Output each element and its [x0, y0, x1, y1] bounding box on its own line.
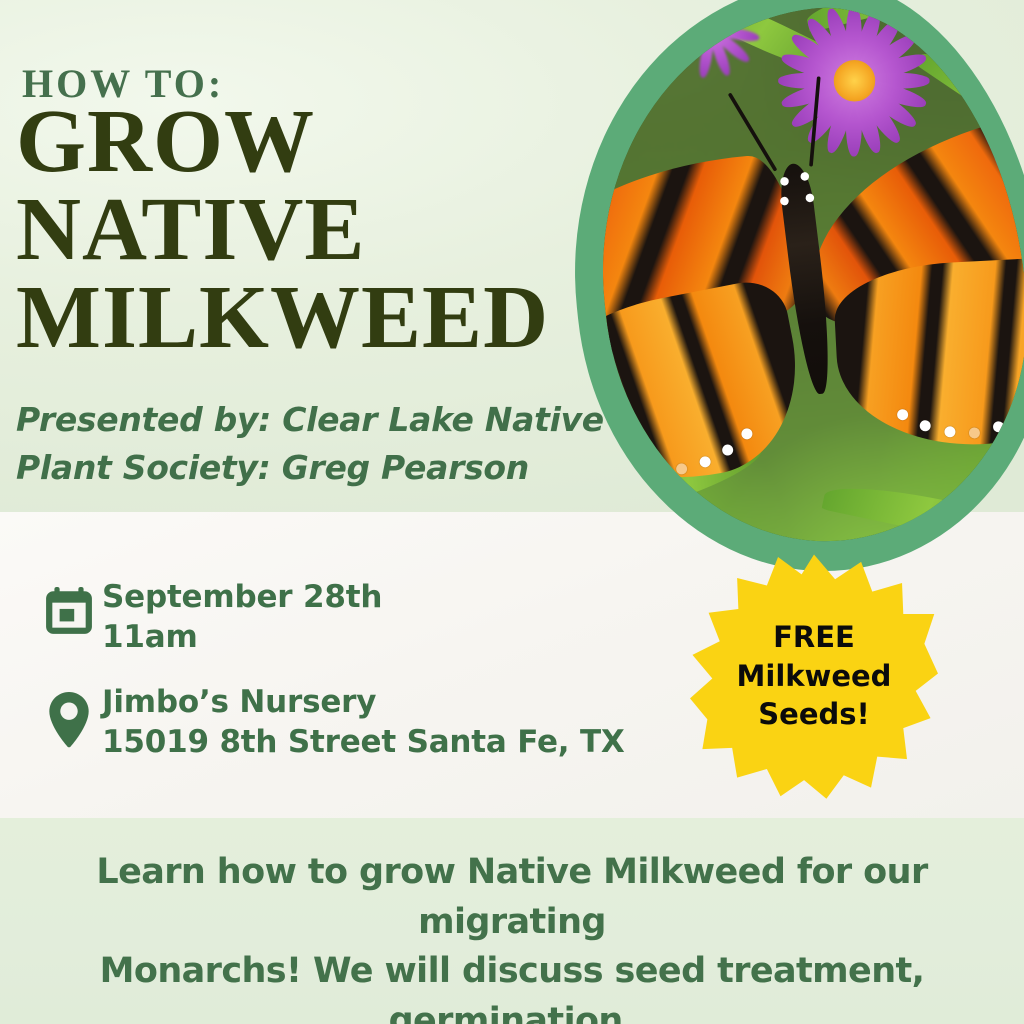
hindwing-right	[832, 256, 1024, 451]
title-line-2: NATIVE	[16, 186, 549, 274]
presenter-line-2: Plant Society: Greg Pearson	[16, 444, 604, 492]
title-line-3: MILKWEED	[16, 274, 549, 362]
free-seeds-badge[interactable]: FREE Milkweed Seeds!	[690, 552, 938, 800]
detail-row-date: September 28th 11am	[44, 578, 625, 657]
page-title: GROW NATIVE MILKWEED	[16, 98, 549, 363]
event-details: September 28th 11am Jimbo’s Nursery 1501…	[44, 578, 625, 789]
detail-row-location: Jimbo’s Nursery 15019 8th Street Santa F…	[44, 683, 625, 762]
location-pin-icon	[44, 683, 102, 754]
butterfly-photo	[576, 0, 1024, 562]
detail-text-location: Jimbo’s Nursery 15019 8th Street Santa F…	[102, 683, 625, 762]
badge-line-2: Milkweed	[737, 657, 892, 696]
description-line-2: Monarchs! We will discuss seed treatment…	[0, 947, 1024, 1024]
calendar-icon	[44, 578, 102, 641]
description-line-1: Learn how to grow Native Milkweed for ou…	[0, 848, 1024, 947]
monarch-butterfly	[576, 108, 1024, 549]
badge-line-3: Seeds!	[758, 695, 869, 734]
butterfly-photo-blob	[575, 0, 1024, 572]
poster-canvas: HOW TO: GROW NATIVE MILKWEED Presented b…	[0, 0, 1024, 1024]
title-line-1: GROW	[16, 98, 549, 186]
event-time: 11am	[102, 618, 382, 658]
description-text: Learn how to grow Native Milkweed for ou…	[0, 848, 1024, 1024]
detail-text-date: September 28th 11am	[102, 578, 382, 657]
venue-address: 15019 8th Street Santa Fe, TX	[102, 723, 625, 763]
event-date: September 28th	[102, 578, 382, 618]
presenter-line-1: Presented by: Clear Lake Native	[16, 396, 604, 444]
badge-text: FREE Milkweed Seeds!	[690, 552, 938, 800]
presenter-credit: Presented by: Clear Lake Native Plant So…	[16, 396, 604, 492]
venue-name: Jimbo’s Nursery	[102, 683, 625, 723]
badge-line-1: FREE	[773, 618, 855, 657]
